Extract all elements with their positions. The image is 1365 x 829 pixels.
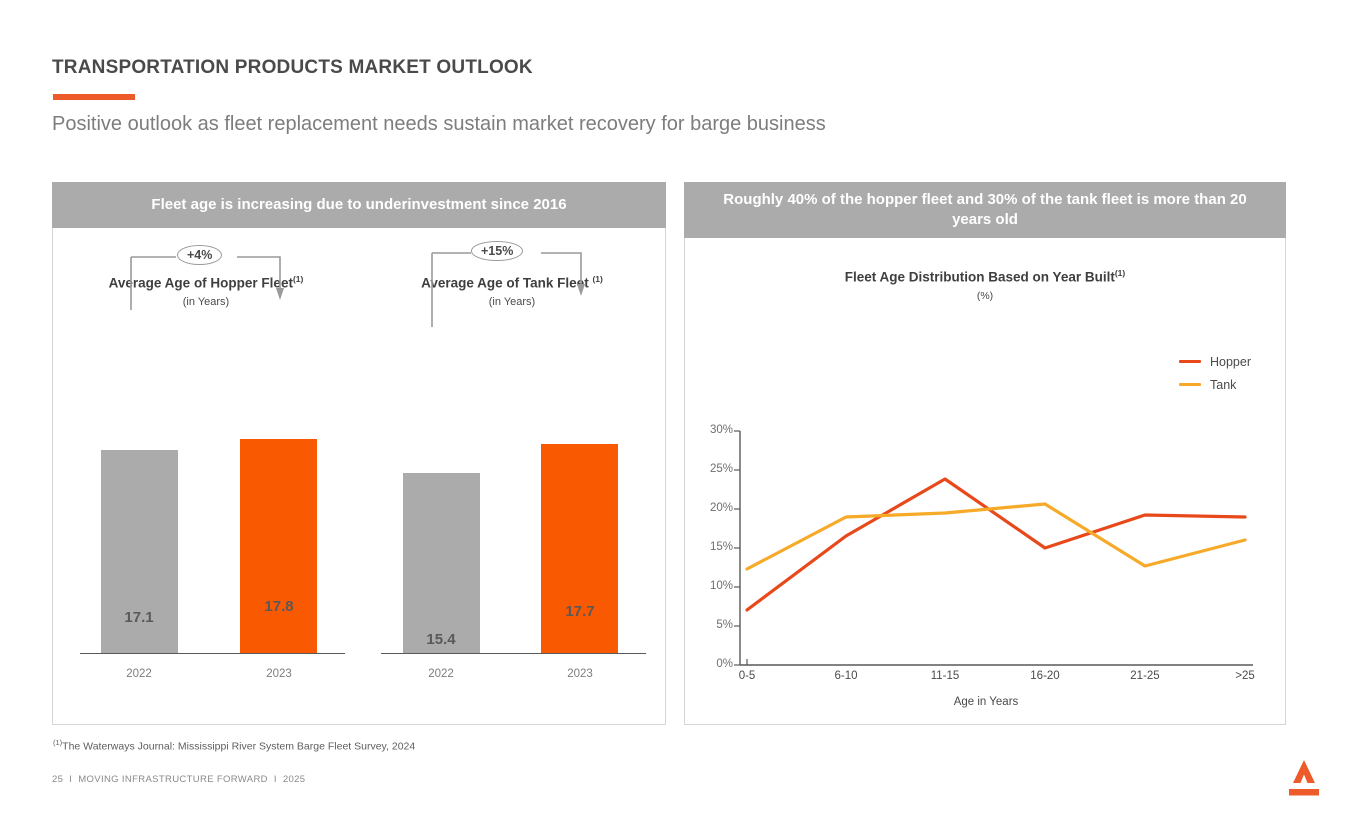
line-chart-svg — [685, 238, 1287, 725]
right-panel-heading: Roughly 40% of the hopper fleet and 30% … — [684, 182, 1286, 238]
x-tick-11-15: 11-15 — [910, 670, 980, 682]
x-tick-21-25: 21-25 — [1110, 670, 1180, 682]
bar-chart-tank: Average Age of Tank Fleet (1) (in Years)… — [359, 228, 665, 725]
x-tick-0-5: 0-5 — [712, 670, 782, 682]
bar-chart-hopper-axis — [80, 653, 345, 654]
left-panel-body: Average Age of Hopper Fleet(1) (in Years… — [52, 228, 666, 725]
deck-year: 2025 — [283, 774, 306, 785]
right-panel: Roughly 40% of the hopper fleet and 30% … — [684, 182, 1286, 725]
page-title: TRANSPORTATION PRODUCTS MARKET OUTLOOK — [52, 57, 533, 79]
page-subtitle: Positive outlook as fleet replacement ne… — [52, 113, 826, 136]
deck-name: MOVING INFRASTRUCTURE FORWARD — [78, 774, 268, 785]
x-tick-16-20: 16-20 — [1010, 670, 1080, 682]
x-tick-2023-hopper: 2023 — [239, 668, 319, 680]
footnote-text: The Waterways Journal: Mississippi River… — [62, 741, 415, 753]
growth-connector-hopper: +4% — [53, 228, 359, 348]
title-accent-rule — [53, 94, 135, 100]
right-panel-body: Fleet Age Distribution Based on Year Bui… — [684, 238, 1286, 725]
x-tick-2022-tank: 2022 — [401, 668, 481, 680]
bar-chart-hopper: Average Age of Hopper Fleet(1) (in Years… — [53, 228, 359, 725]
bar-value-2022-tank: 15.4 — [401, 631, 481, 648]
left-panel-heading: Fleet age is increasing due to underinve… — [52, 182, 666, 228]
bar-2022-tank — [403, 473, 480, 653]
bar-value-2022-hopper: 17.1 — [99, 609, 179, 626]
growth-connector-tank: +15% — [359, 228, 665, 348]
footnote-marker: (1) — [53, 738, 62, 747]
footer-bar: 25IMOVING INFRASTRUCTURE FORWARDI2025 — [52, 774, 311, 785]
bar-2023-hopper — [240, 439, 317, 653]
footer-separator-1: I — [69, 774, 72, 785]
x-tick-6-10: 6-10 — [811, 670, 881, 682]
left-panel: Fleet age is increasing due to underinve… — [52, 182, 666, 725]
bar-chart-tank-plot: +15% 15.4 17.7 2022 2023 — [359, 228, 665, 725]
x-tick-2023-tank: 2023 — [540, 668, 620, 680]
slide: TRANSPORTATION PRODUCTS MARKET OUTLOOK P… — [0, 0, 1365, 829]
line-chart-plot: 30% 25% 20% 15% 10% 5% 0% — [685, 238, 1287, 725]
bar-charts-row: Average Age of Hopper Fleet(1) (in Years… — [53, 228, 665, 725]
page-number: 25 — [52, 774, 63, 785]
footnote: (1)The Waterways Journal: Mississippi Ri… — [53, 738, 415, 753]
footer-separator-2: I — [274, 774, 277, 785]
x-tick-2022-hopper: 2022 — [99, 668, 179, 680]
bar-2023-tank — [541, 444, 618, 653]
bar-chart-hopper-plot: +4% 17.1 17.8 2022 2023 — [53, 228, 359, 725]
bar-value-2023-hopper: 17.8 — [239, 598, 319, 615]
line-chart-x-axis-label: Age in Years — [685, 696, 1287, 708]
bar-value-2023-tank: 17.7 — [540, 603, 620, 620]
x-tick-gt25: >25 — [1210, 670, 1280, 682]
bar-chart-tank-axis — [381, 653, 646, 654]
company-logo-icon — [1277, 756, 1331, 800]
